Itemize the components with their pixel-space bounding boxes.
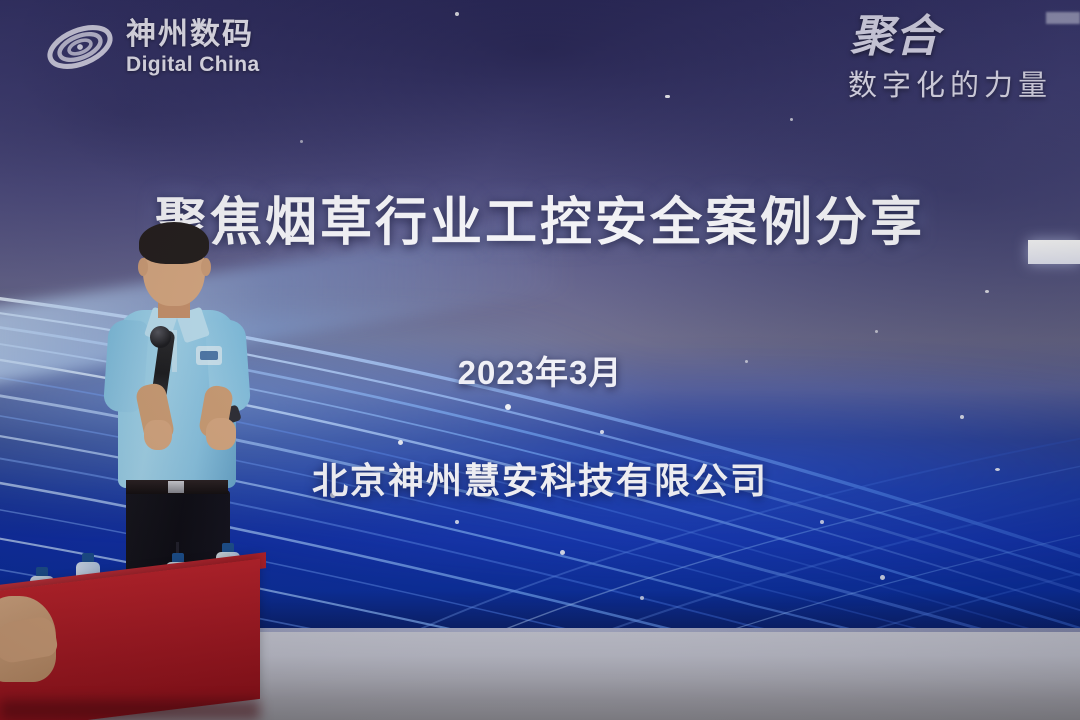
screen-edge-light-bar-small xyxy=(1046,12,1080,24)
conference-stage-photo: 神州数码 Digital China 聚合 数字化的力量 聚焦烟草行业工控安全案… xyxy=(0,0,1080,720)
brand-logo: 神州数码 Digital China xyxy=(44,16,260,78)
polo-chest-logo-icon xyxy=(196,346,222,365)
light-particle xyxy=(455,12,459,16)
brand-name-en: Digital China xyxy=(126,54,260,75)
speaker-ear-right xyxy=(201,258,211,276)
speaker-ear-left xyxy=(138,258,148,276)
light-particle xyxy=(790,118,793,121)
light-particle xyxy=(665,95,670,98)
swirl-spiral-icon xyxy=(44,16,116,78)
brand-name-cn: 神州数码 xyxy=(126,20,260,50)
table-shadow xyxy=(0,700,260,720)
slogan-calligraphy: 聚合 xyxy=(848,16,1052,58)
screen-edge-light-bar xyxy=(1028,240,1080,264)
speaker-hand-right xyxy=(206,418,236,450)
event-slogan: 聚合 数字化的力量 xyxy=(848,16,1052,104)
light-particle xyxy=(300,140,303,143)
speaker-belt-buckle xyxy=(168,481,184,493)
speaker-hand-left xyxy=(144,420,172,450)
slogan-subtitle: 数字化的力量 xyxy=(848,62,1052,104)
speaker-hair xyxy=(139,222,209,264)
brand-text: 神州数码 Digital China xyxy=(126,20,260,75)
